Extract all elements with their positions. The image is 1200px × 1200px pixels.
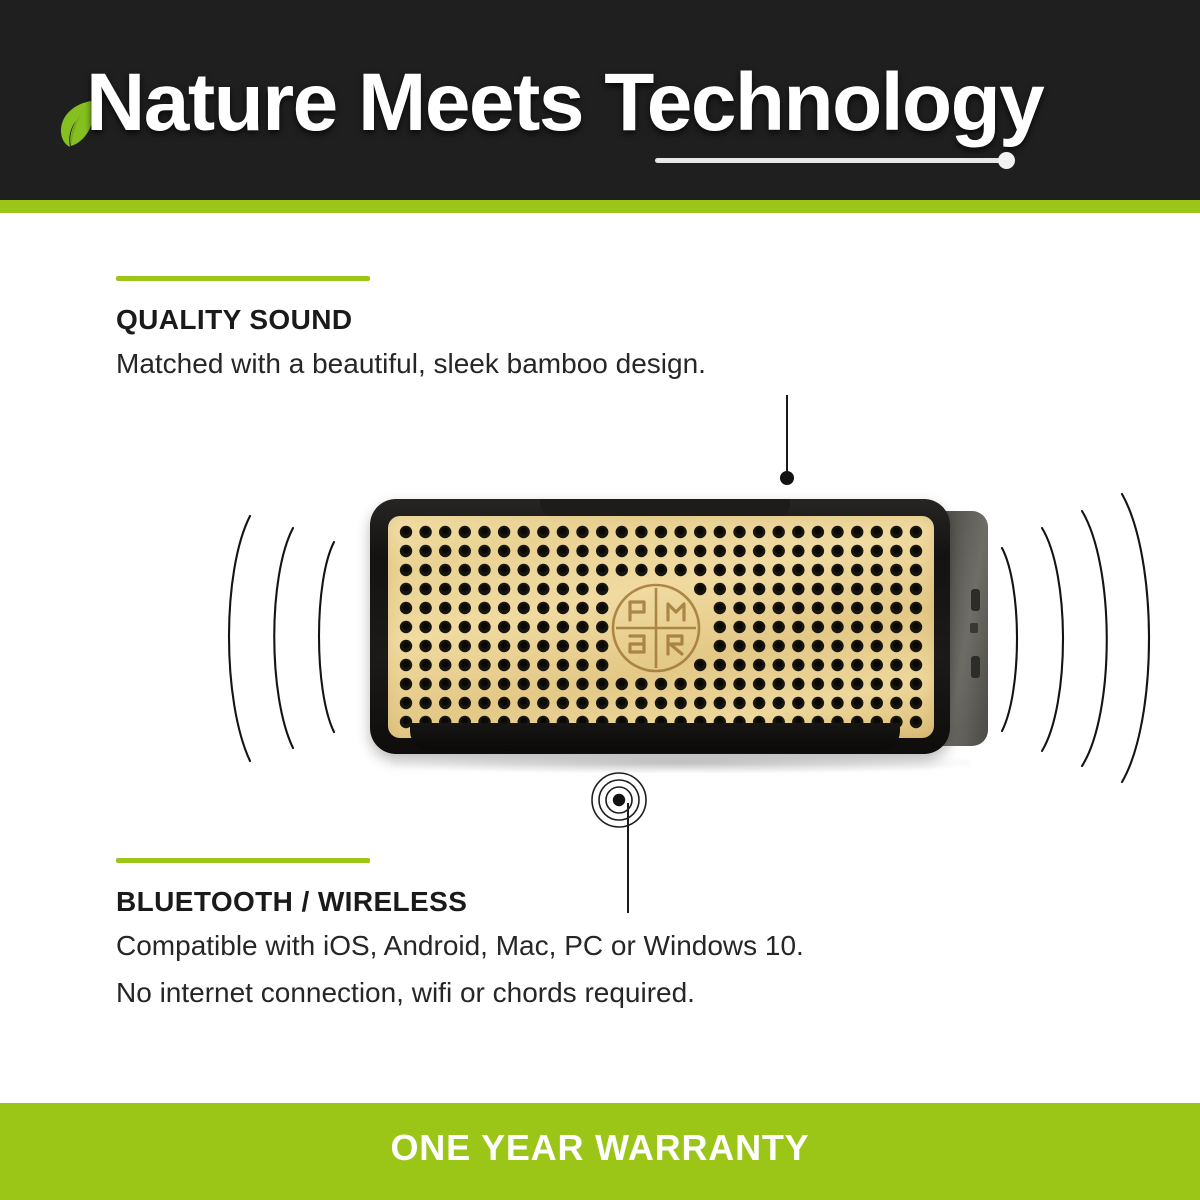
callout-leader-line-top <box>786 395 788 475</box>
speaker-bamboo-grille <box>388 516 934 738</box>
speaker-bottom-base <box>410 723 900 751</box>
feature-accent-bar <box>116 858 370 863</box>
product-speaker <box>360 481 1000 781</box>
header-content: Nature Meets Technology <box>0 0 1200 200</box>
header-accent-rule <box>0 200 1200 213</box>
feature-body-line: Compatible with iOS, Android, Mac, PC or… <box>116 927 804 965</box>
feature-body-line: No internet connection, wifi or chords r… <box>116 974 804 1012</box>
infographic-page: Nature Meets Technology QUALITY SOUND Ma… <box>0 0 1200 1200</box>
title-underline-dot-icon <box>998 152 1015 169</box>
feature-bluetooth-wireless: BLUETOOTH / WIRELESS Compatible with iOS… <box>116 858 804 1011</box>
feature-title: QUALITY SOUND <box>116 304 706 336</box>
sound-wave-arcs-left-icon <box>220 476 380 796</box>
sound-wave-arcs-right-icon <box>960 466 1160 796</box>
feature-title: BLUETOOTH / WIRELESS <box>116 886 804 918</box>
feature-quality-sound: QUALITY SOUND Matched with a beautiful, … <box>116 276 706 383</box>
speaker-top-notch <box>540 499 790 517</box>
speaker-drop-shadow <box>390 753 970 773</box>
header-banner: Nature Meets Technology <box>0 0 1200 200</box>
speaker-button-bottom[interactable] <box>971 656 980 678</box>
warranty-text: ONE YEAR WARRANTY <box>0 1127 1200 1169</box>
feature-body-line: Matched with a beautiful, sleek bamboo d… <box>116 345 706 383</box>
feature-accent-bar <box>116 276 370 281</box>
speaker-charging-port <box>970 623 978 633</box>
warranty-banner: ONE YEAR WARRANTY <box>0 1103 1200 1200</box>
page-title: Nature Meets Technology <box>86 62 1176 144</box>
title-underline <box>655 158 1007 163</box>
speaker-button-top[interactable] <box>971 589 980 611</box>
main-canvas: QUALITY SOUND Matched with a beautiful, … <box>0 213 1200 1103</box>
brand-monogram-logo-icon <box>610 582 702 674</box>
